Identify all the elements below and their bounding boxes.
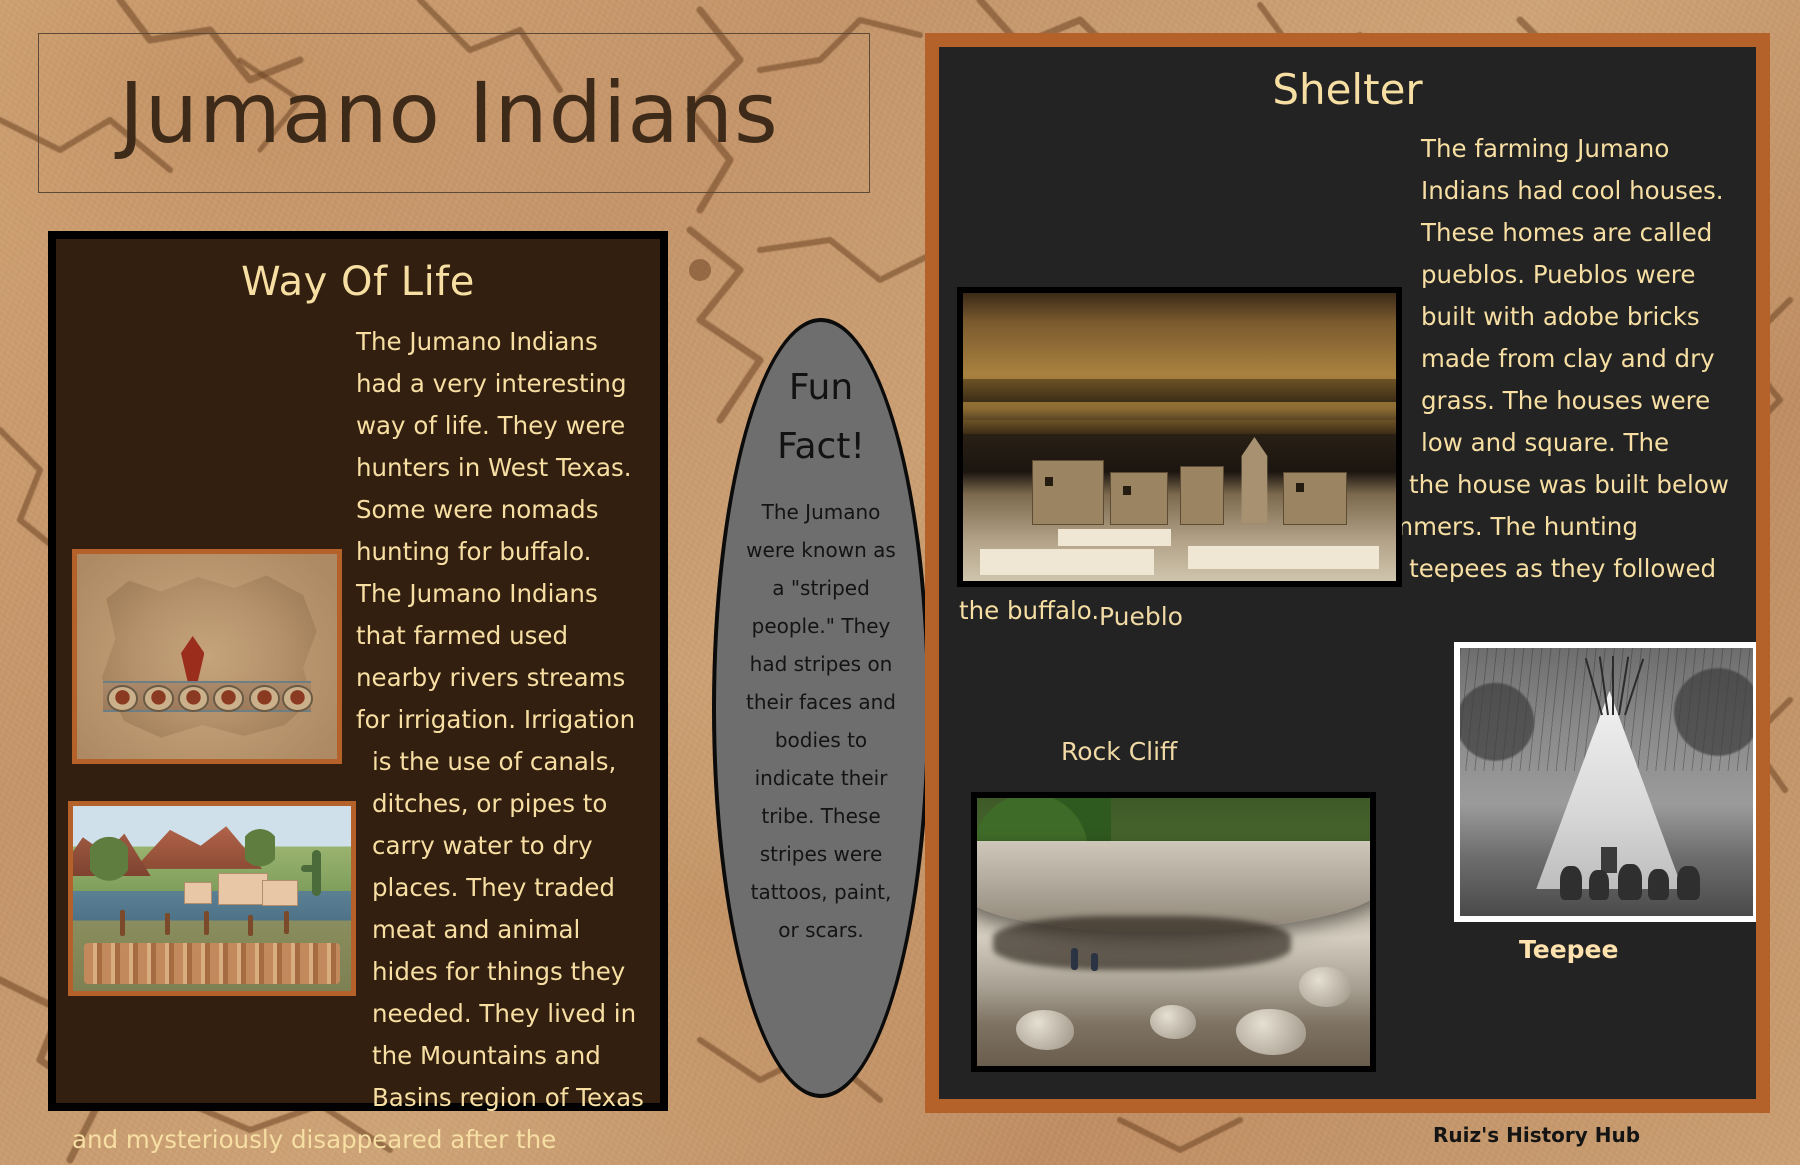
shelter-inner: Shelter Pue: [939, 47, 1756, 1099]
shelter-heading: Shelter: [959, 65, 1736, 114]
caption-rock-cliff: Rock Cliff: [1061, 737, 1177, 766]
fun-fact-body: The Jumano were known as a "striped peop…: [740, 493, 902, 949]
fun-fact-title: Fun Fact!: [741, 358, 901, 477]
poster-canvas: Jumano Indians Way Of Life: [0, 0, 1800, 1165]
rock-cliff-overhang-image: [971, 792, 1376, 1072]
way-of-life-inner: Way Of Life: [56, 239, 660, 1103]
way-of-life-panel: Way Of Life: [48, 231, 668, 1111]
jumano-village-painting-image: [68, 801, 356, 996]
teepee-image: [1454, 642, 1756, 922]
poster-title-box: Jumano Indians: [38, 33, 870, 193]
fun-fact-title-line-2: Fact!: [741, 417, 901, 476]
page-title: Jumano Indians: [39, 71, 779, 155]
fun-fact-title-line-1: Fun: [741, 358, 901, 417]
caption-teepee: Teepee: [1519, 935, 1618, 964]
painted-buffalo-hide-image: [72, 549, 342, 764]
fun-fact-callout: Fun Fact! The Jumano were known as a "st…: [712, 318, 930, 1098]
caption-pueblo: Pueblo: [1099, 602, 1183, 631]
shelter-panel: Shelter Pue: [925, 33, 1770, 1113]
footer-credit: Ruiz's History Hub: [1433, 1123, 1640, 1147]
way-of-life-heading: Way Of Life: [72, 259, 644, 305]
pueblo-cliff-dwelling-image: [957, 287, 1402, 587]
